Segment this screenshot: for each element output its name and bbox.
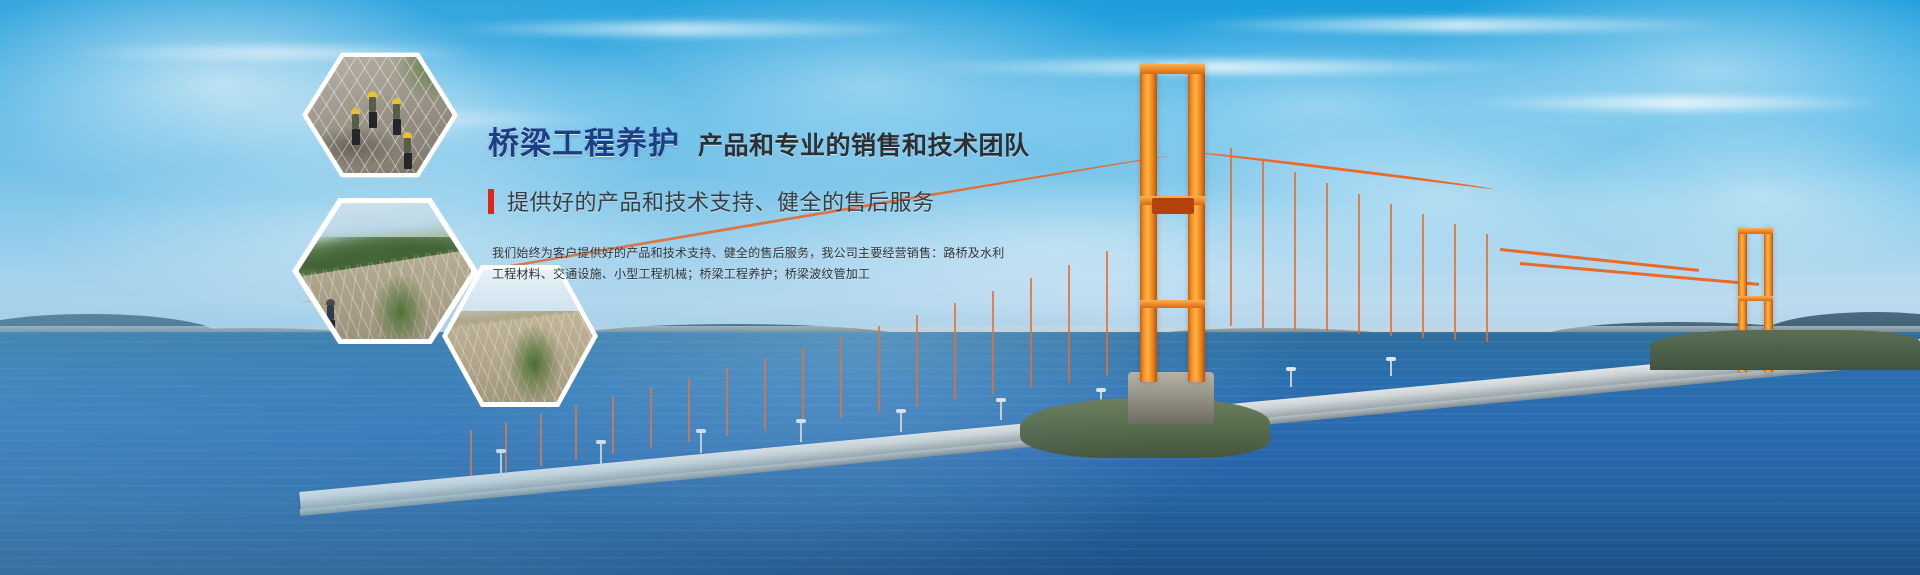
worker-figure <box>403 132 412 169</box>
hanger <box>916 315 918 406</box>
subheadline-text: 提供好的产品和技术支持、健全的售后服务 <box>507 185 935 217</box>
description-block: 我们始终为客户提供好的产品和技术支持、健全的售后服务，我公司主要经营销售：路桥及… <box>492 243 1008 285</box>
hanger <box>1262 160 1264 328</box>
bridge-tower-near-left-leg <box>1140 64 1157 382</box>
sapling-tree <box>505 320 563 400</box>
hanger <box>840 337 842 418</box>
deck-lamp <box>1000 401 1002 420</box>
hanger <box>954 303 956 400</box>
deck-lamp <box>900 412 902 432</box>
hanger <box>1230 148 1232 326</box>
hanger <box>1030 278 1032 388</box>
hero-banner: 桥梁工程养护 产品和专业的销售和技术团队 提供好的产品和技术支持、健全的售后服务… <box>0 0 1920 575</box>
hanger <box>764 358 766 430</box>
tower-sign-plaque <box>1152 198 1194 214</box>
hanger <box>1106 251 1108 376</box>
hanger <box>1422 214 1424 338</box>
description-line-1: 我们始终为客户提供好的产品和技术支持、健全的售后服务，我公司主要经营销售：路桥及… <box>492 243 1008 264</box>
suspension-bridge <box>0 0 1920 575</box>
worker-figure <box>392 98 401 135</box>
tower-crossbeam-top <box>1140 64 1205 74</box>
hanger <box>575 405 577 460</box>
hanger <box>612 396 614 454</box>
hanger <box>1326 183 1328 332</box>
tower-far-crossbeam-mid <box>1738 296 1773 301</box>
deck-lamp <box>800 422 802 442</box>
worker-figure <box>326 299 335 330</box>
hanger <box>878 326 880 412</box>
deck-lamp <box>1390 360 1392 376</box>
hanger <box>688 378 690 442</box>
hanger <box>650 387 652 448</box>
deck-lamp <box>1290 370 1292 387</box>
headline-main: 桥梁工程养护 <box>488 118 680 163</box>
hanger <box>540 414 542 466</box>
banner-copy: 桥梁工程养护 产品和专业的销售和技术团队 提供好的产品和技术支持、健全的售后服务… <box>488 118 1008 285</box>
worker-figure <box>368 91 377 128</box>
hanger <box>1358 194 1360 334</box>
hanger <box>505 422 507 472</box>
hanger <box>470 430 472 478</box>
hanger <box>992 291 994 394</box>
hanger <box>1294 172 1296 330</box>
headline-sub: 产品和专业的销售和技术团队 <box>698 126 1030 162</box>
far-shore-land <box>1650 330 1920 370</box>
deck-lamp <box>600 443 602 464</box>
subheadline-row: 提供好的产品和技术支持、健全的售后服务 <box>488 185 1008 217</box>
hanger <box>1454 224 1456 340</box>
description-line-2: 工程材料、交通设施、小型工程机械；桥梁工程养护；桥梁波纹管加工 <box>492 264 1008 285</box>
hanger <box>726 368 728 436</box>
bridge-tower-near-right-leg <box>1188 64 1205 382</box>
hanger <box>1486 234 1488 342</box>
tower-far-crossbeam-top <box>1738 228 1773 234</box>
deck-lamp <box>500 452 502 474</box>
hanger <box>1068 265 1070 382</box>
hanger <box>802 348 804 424</box>
headline-row: 桥梁工程养护 产品和专业的销售和技术团队 <box>488 118 1008 163</box>
worker-figure <box>351 108 360 145</box>
wire-mesh-net <box>307 55 452 176</box>
deck-lamp <box>700 432 702 453</box>
hanger <box>1390 204 1392 336</box>
tower-crossbeam-low <box>1140 300 1205 308</box>
accent-bar <box>488 189 494 214</box>
main-cable-right <box>1196 150 1494 190</box>
shrub <box>371 271 430 339</box>
